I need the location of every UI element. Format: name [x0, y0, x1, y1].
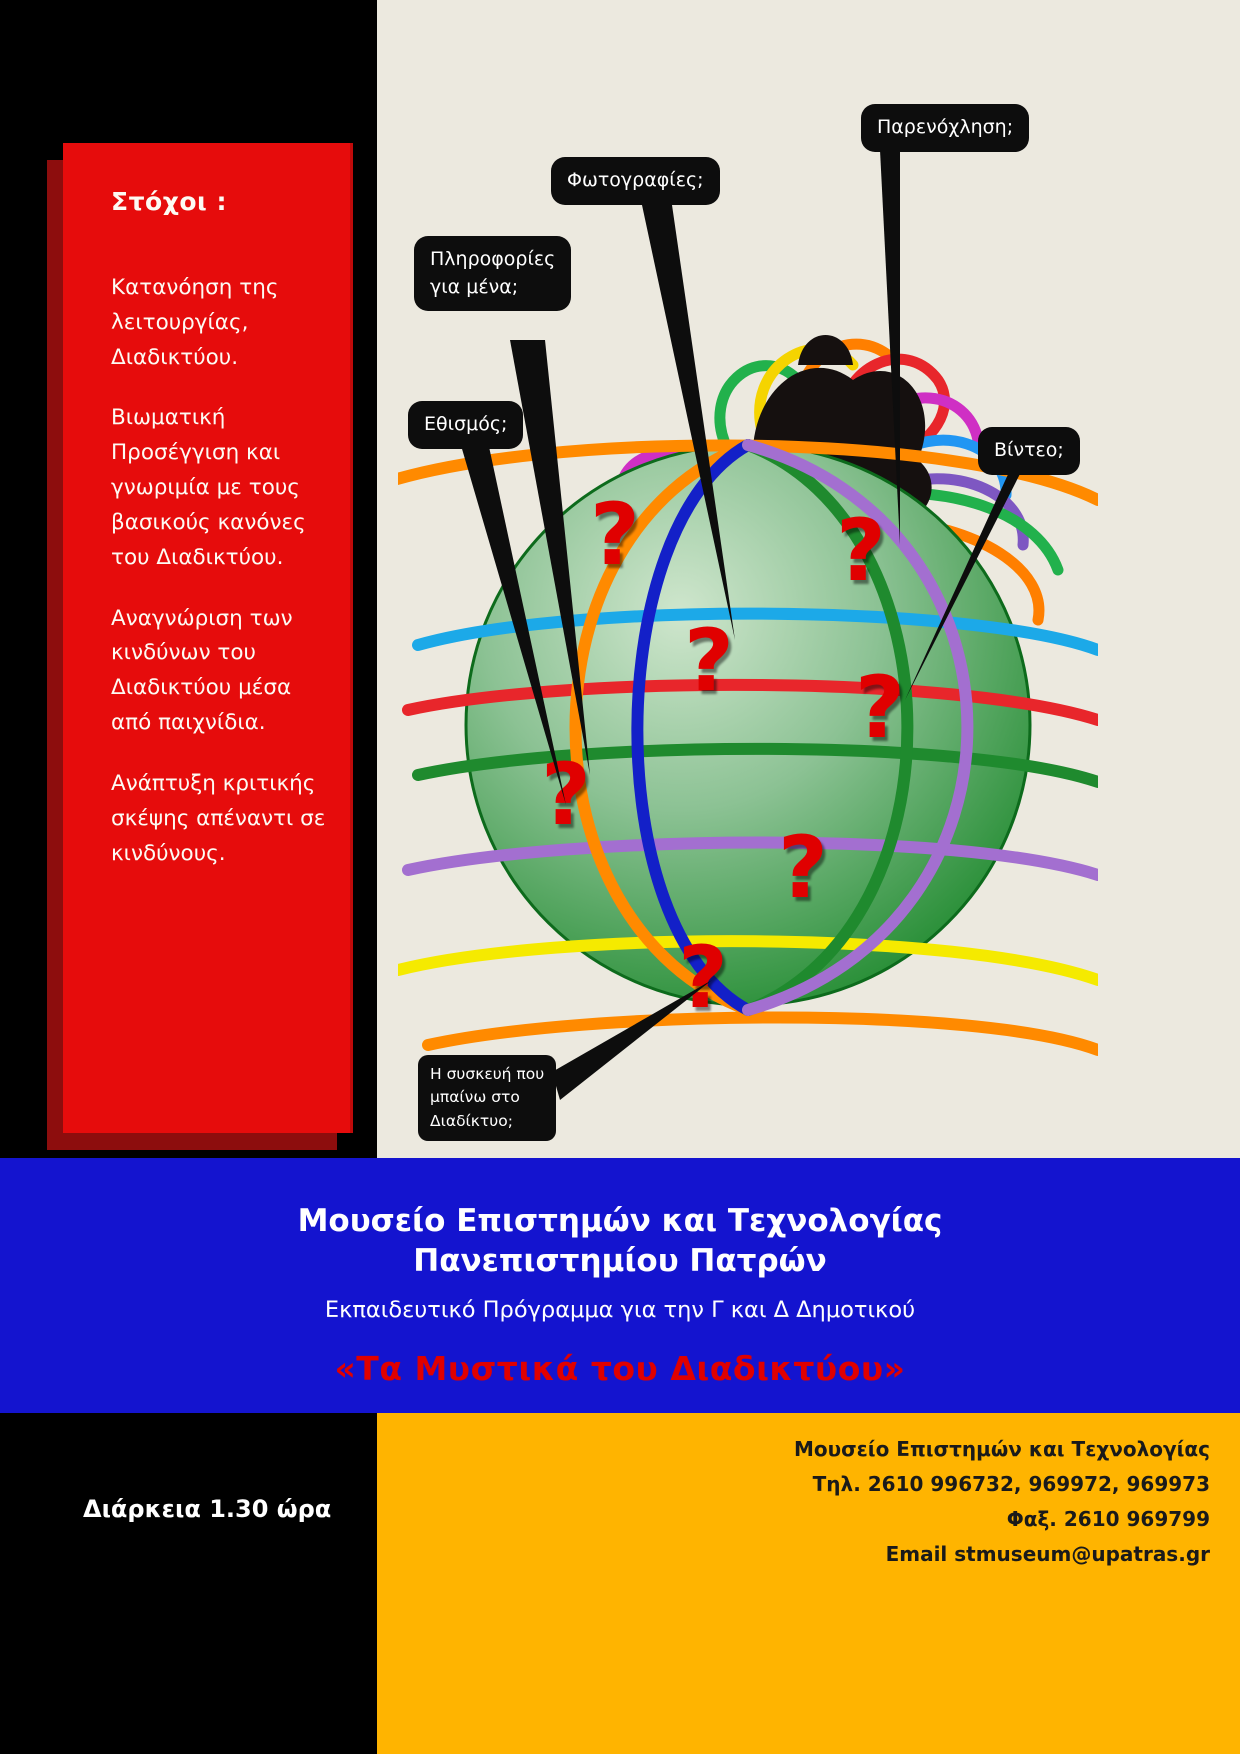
- contact-line: Τηλ. 2610 996732, 969972, 969973: [610, 1467, 1210, 1502]
- bubble-fotografies[interactable]: Φωτογραφίες;: [551, 157, 720, 205]
- contact-line: Μουσείο Επιστημών και Τεχνολογίας: [610, 1432, 1210, 1467]
- upper-stage: ? ? ? ? ? ? ? Παρενόχληση; Φωτογραφίες; …: [0, 0, 1240, 1158]
- museum-title: Μουσείο Επιστημών και Τεχνολογίας Πανεπι…: [0, 1158, 1240, 1281]
- museum-banner: Μουσείο Επιστημών και Τεχνολογίας Πανεπι…: [0, 1158, 1240, 1413]
- poster-root: ? ? ? ? ? ? ? Παρενόχληση; Φωτογραφίες; …: [0, 0, 1240, 1754]
- program-title: «Τα Μυστικά του Διαδικτύου»: [0, 1323, 1240, 1388]
- museum-title-line1: Μουσείο Επιστημών και Τεχνολογίας: [0, 1202, 1240, 1242]
- bubble-syskevi[interactable]: Η συσκευή που μπαίνω στο Διαδίκτυο;: [418, 1055, 556, 1141]
- bubble-ethismos[interactable]: Εθισμός;: [408, 401, 523, 449]
- program-subtitle: Εκπαιδευτικό Πρόγραμμα για την Γ και Δ Δ…: [0, 1281, 1240, 1323]
- contact-line: Φαξ. 2610 969799: [610, 1502, 1210, 1537]
- duration-label: Διάρκεια 1.30 ώρα: [83, 1495, 331, 1523]
- bubble-plirofories[interactable]: Πληροφορίες για μένα;: [414, 236, 571, 311]
- museum-title-line2: Πανεπιστημίου Πατρών: [0, 1242, 1240, 1282]
- bubble-video[interactable]: Βίντεο;: [978, 427, 1080, 475]
- contact-info: Μουσείο Επιστημών και Τεχνολογίας Τηλ. 2…: [610, 1432, 1210, 1572]
- bubble-parenoxlisi[interactable]: Παρενόχληση;: [861, 104, 1029, 152]
- contact-line: Email stmuseum@upatras.gr: [610, 1537, 1210, 1572]
